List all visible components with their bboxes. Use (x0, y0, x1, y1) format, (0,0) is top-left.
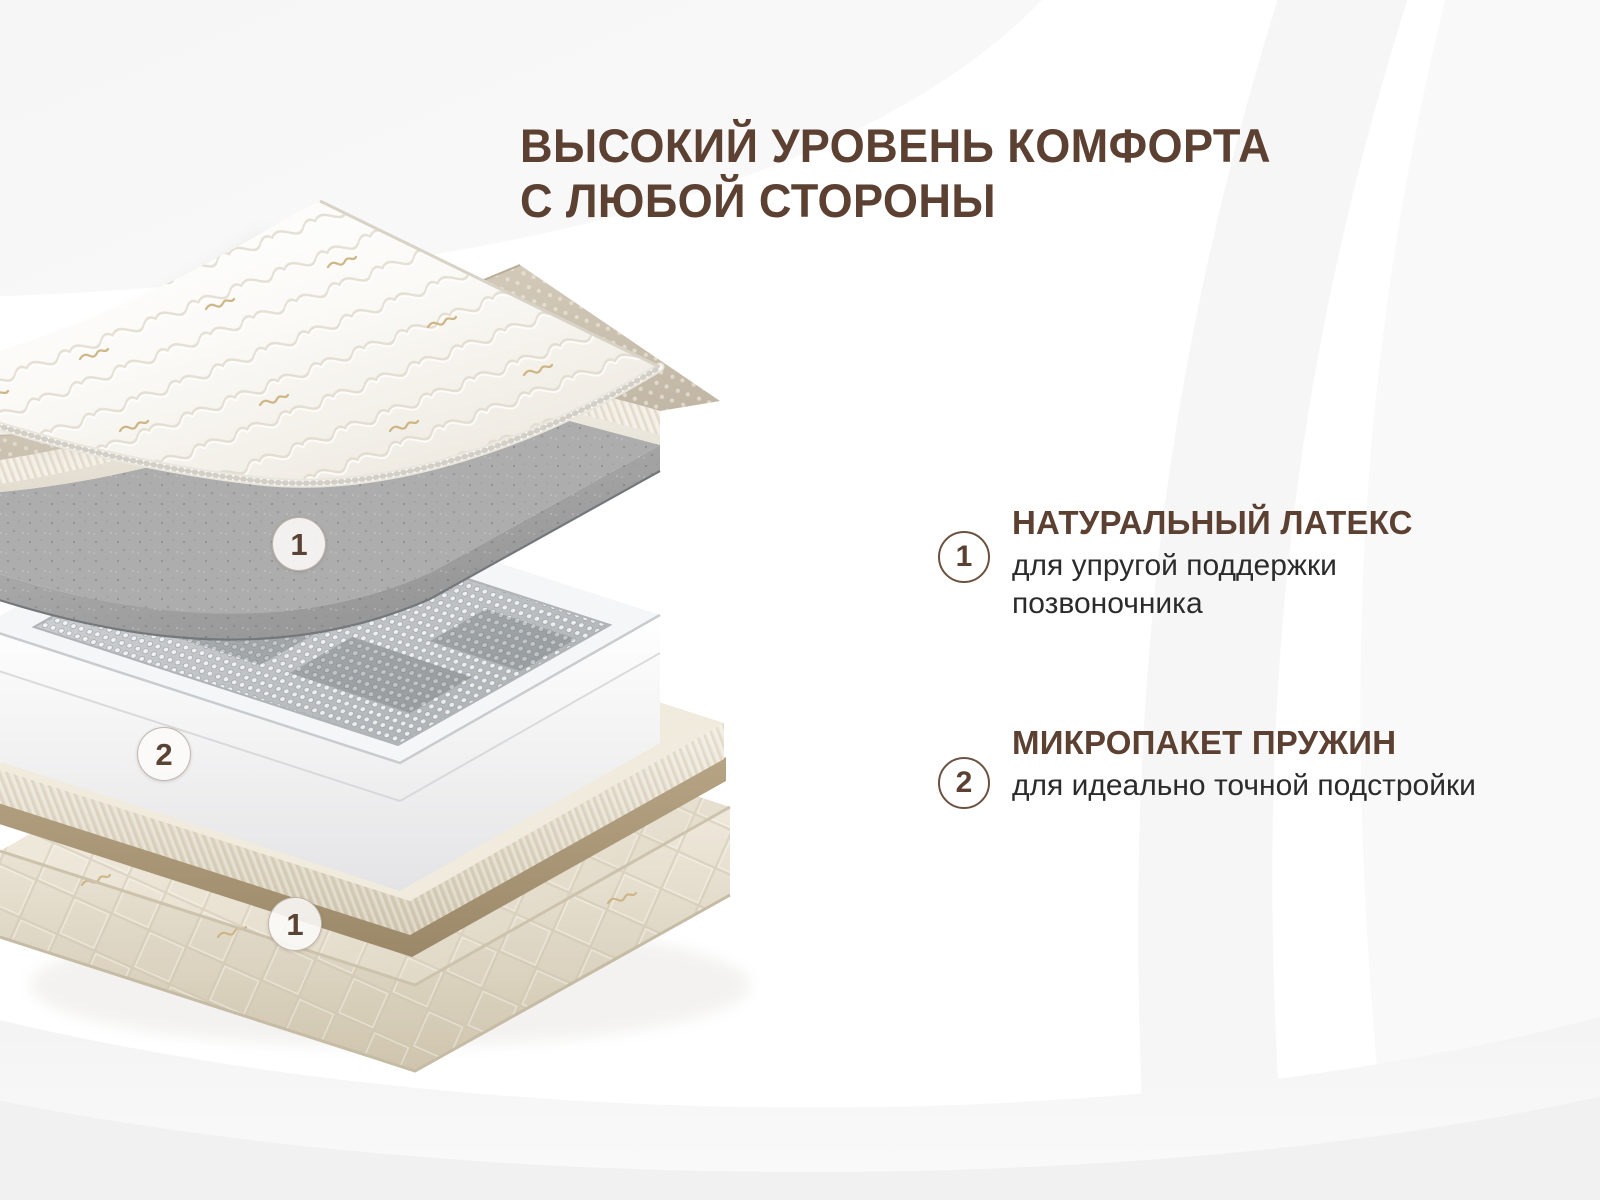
legend-number-2: 2 (938, 757, 990, 809)
page-title: ВЫСОКИЙ УРОВЕНЬ КОМФОРТА С ЛЮБОЙ СТОРОНЫ (520, 118, 1490, 229)
legend-number-1: 1 (938, 531, 990, 583)
product-badge-2: 2 (137, 727, 191, 781)
product-badge-3: 1 (268, 897, 322, 951)
product-badge-1: 1 (272, 517, 326, 571)
page-title-line-2: С ЛЮБОЙ СТОРОНЫ (520, 173, 1490, 228)
page-title-line-1: ВЫСОКИЙ УРОВЕНЬ КОМФОРТА (520, 119, 1271, 172)
legend-title-1: НАТУРАЛЬНЫЙ ЛАТЕКС (1012, 505, 1482, 542)
legend-description-2: для идеально точной подстройки (1012, 767, 1476, 805)
mattress-layer-illustration (0, 195, 860, 1095)
legend-item-natural-latex: 1 НАТУРАЛЬНЫЙ ЛАТЕКС для упругой поддерж… (938, 505, 1482, 623)
legend-item-micro-spring-packet: 2 МИКРОПАКЕТ ПРУЖИН для идеально точной … (938, 725, 1476, 809)
legend-title-2: МИКРОПАКЕТ ПРУЖИН (1012, 725, 1476, 762)
legend-description-1: для упругой поддержки позвоночника (1012, 547, 1482, 623)
